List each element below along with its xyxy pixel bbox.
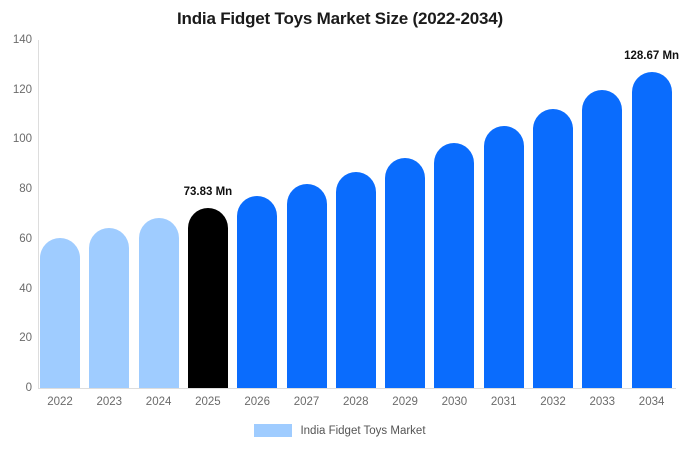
chart-title: India Fidget Toys Market Size (2022-2034… <box>0 9 680 29</box>
y-axis-tick-0: 0 <box>0 382 32 394</box>
bar-group-2023[interactable] <box>89 40 129 388</box>
bar-2023[interactable] <box>89 228 129 388</box>
chart-container: India Fidget Toys Market Size (2022-2034… <box>0 0 680 450</box>
bar-group-2025[interactable] <box>188 40 228 388</box>
bar-2024[interactable] <box>139 218 179 388</box>
legend-swatch-india-fidget-toys-market <box>254 424 292 437</box>
bar-2032[interactable] <box>533 109 573 388</box>
x-axis-tick-2029: 2029 <box>385 396 425 408</box>
y-axis-tick-20: 20 <box>0 332 32 344</box>
x-axis-tick-2025: 2025 <box>188 396 228 408</box>
y-axis-tick-140: 140 <box>0 34 32 46</box>
y-axis-tick-120: 120 <box>0 84 32 96</box>
x-axis-tick-2027: 2027 <box>287 396 327 408</box>
x-axis-tick-2026: 2026 <box>237 396 277 408</box>
x-axis-line <box>38 388 676 389</box>
x-axis-tick-2033: 2033 <box>582 396 622 408</box>
y-axis-tick-40: 40 <box>0 283 32 295</box>
x-axis-tick-2024: 2024 <box>139 396 179 408</box>
legend-label-india-fidget-toys-market: India Fidget Toys Market <box>300 425 425 437</box>
plot-area <box>38 40 676 388</box>
bar-group-2029[interactable] <box>385 40 425 388</box>
bar-group-2026[interactable] <box>237 40 277 388</box>
y-axis-tick-80: 80 <box>0 183 32 195</box>
bar-2034[interactable] <box>632 72 672 388</box>
x-axis-tick-2031: 2031 <box>484 396 524 408</box>
y-axis-tick-60: 60 <box>0 233 32 245</box>
y-axis-tick-100: 100 <box>0 133 32 145</box>
bar-group-2031[interactable] <box>484 40 524 388</box>
bar-2027[interactable] <box>287 184 327 388</box>
x-axis-tick-2022: 2022 <box>40 396 80 408</box>
y-axis-tick-labels: 020406080100120140 <box>0 0 32 450</box>
x-axis-tick-2028: 2028 <box>336 396 376 408</box>
bar-2030[interactable] <box>434 143 474 388</box>
bar-2031[interactable] <box>484 126 524 388</box>
bar-2029[interactable] <box>385 158 425 388</box>
x-axis-tick-2034: 2034 <box>632 396 672 408</box>
bar-group-2030[interactable] <box>434 40 474 388</box>
bar-2033[interactable] <box>582 90 622 388</box>
x-axis-tick-2023: 2023 <box>89 396 129 408</box>
x-axis-tick-2030: 2030 <box>434 396 474 408</box>
bar-group-2028[interactable] <box>336 40 376 388</box>
bar-group-2033[interactable] <box>582 40 622 388</box>
bar-group-2034[interactable] <box>632 40 672 388</box>
chart-legend: India Fidget Toys Market <box>0 424 680 437</box>
bar-value-label-2025: 73.83 Mn <box>184 186 233 198</box>
bar-2025[interactable] <box>188 208 228 388</box>
bar-2026[interactable] <box>237 196 277 388</box>
bar-2022[interactable] <box>40 238 80 388</box>
x-axis-tick-2032: 2032 <box>533 396 573 408</box>
bar-value-label-2034: 128.67 Mn <box>624 50 679 62</box>
bar-group-2024[interactable] <box>139 40 179 388</box>
bar-group-2027[interactable] <box>287 40 327 388</box>
bar-group-2022[interactable] <box>40 40 80 388</box>
bar-group-2032[interactable] <box>533 40 573 388</box>
bar-2028[interactable] <box>336 172 376 388</box>
